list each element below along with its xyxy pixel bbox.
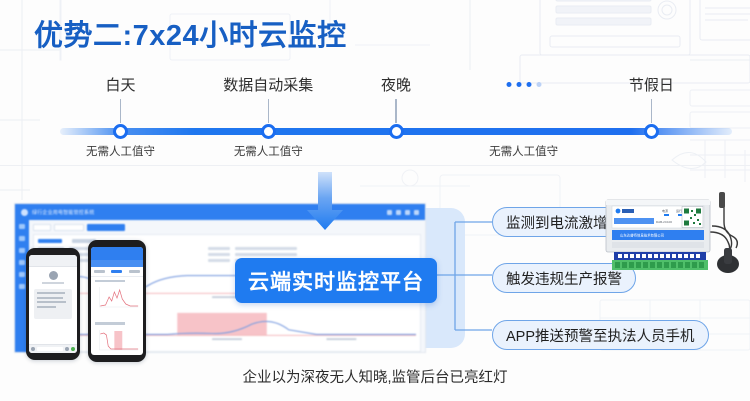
timeline-bottom-label-2: 无需人工值守 — [234, 143, 303, 159]
dashboard-tabs — [33, 224, 421, 231]
callout-pill-3-label: APP推送预警至执法人员手机 — [506, 325, 695, 346]
tab-1 — [33, 224, 51, 231]
voice-icon — [31, 347, 35, 351]
sidebar-item-3 — [19, 248, 25, 253]
timeline: 白天 无需人工值守 数据自动采集 无需人工值守 夜晚 无需人工值守 节假日 — [60, 70, 732, 160]
timeline-top-label-4: 节假日 — [629, 74, 674, 95]
send-button — [71, 347, 75, 351]
phone-navbar — [29, 260, 77, 267]
phone-tab-3 — [129, 270, 140, 273]
callout-pill-1-label: 监测到电流激增 — [506, 212, 608, 233]
page-title: 优势二:7x24小时云监控 — [34, 12, 347, 54]
contact-name — [42, 282, 64, 284]
timeline-tick-3 — [395, 99, 397, 123]
svg-text:山东达普特信息技术有限公司: 山东达普特信息技术有限公司 — [620, 233, 664, 238]
bottom-caption: 企业以为深夜无人知晓,监管后台已亮红灯 — [0, 366, 750, 387]
timeline-node-3[interactable] — [389, 124, 404, 139]
contact-avatar — [49, 271, 58, 280]
subtab-1 — [38, 239, 62, 243]
fullscreen-icon — [396, 210, 401, 215]
dashboard-window-title: 绿行企业用电智能管控系统 — [32, 209, 94, 216]
phone-mockup-report — [88, 240, 146, 362]
search-icon — [387, 210, 392, 215]
emoji-icon — [65, 347, 69, 351]
timeline-top-label-3: 夜晚 — [381, 74, 411, 95]
phone-tabs — [91, 267, 143, 277]
phone-tab-2 — [111, 270, 122, 273]
sidebar-item-6 — [19, 284, 25, 289]
phone-input-bar — [29, 344, 77, 353]
dashboard-topbar: 绿行企业用电智能管控系统 — [15, 204, 425, 220]
antenna-icon — [710, 192, 739, 273]
dashboard-toolbar-icons — [387, 210, 419, 215]
monitoring-device-image: 电源运行通讯 DAB-2C100 山东达普特信息技术有限公司 — [600, 192, 750, 277]
timeline-bottom-label-1: 无需人工值守 — [86, 143, 155, 159]
timeline-node-4[interactable] — [644, 124, 659, 139]
timeline-tick-1 — [120, 99, 122, 123]
down-arrow-icon — [305, 172, 345, 232]
svg-text:运行: 运行 — [676, 208, 682, 213]
timeline-node-2[interactable] — [261, 124, 276, 139]
chat-bubble — [34, 289, 72, 319]
svg-text:DAB-2C100: DAB-2C100 — [656, 220, 672, 224]
dashboard-logo-icon — [21, 209, 28, 216]
timeline-top-label-1: 白天 — [105, 74, 135, 95]
message-input — [37, 347, 63, 351]
timeline-tick-2 — [268, 99, 270, 123]
cloud-platform-box[interactable]: 云端实时监控平台 — [235, 258, 437, 303]
timeline-ellipsis — [506, 82, 541, 87]
timeline-top-label-2: 数据自动采集 — [223, 74, 313, 95]
svg-text:电源: 电源 — [662, 208, 668, 213]
timeline-bottom-label-3: 无需人工值守 — [489, 143, 558, 159]
phone-chart-1 — [91, 277, 143, 320]
phone-chart-2 — [91, 319, 143, 355]
sidebar-item-5 — [19, 272, 25, 277]
bell-icon — [405, 210, 410, 215]
phone-app-header — [91, 247, 143, 260]
timeline-node-1[interactable] — [113, 124, 128, 139]
cloud-platform-label: 云端实时监控平台 — [248, 266, 424, 296]
callout-pill-3[interactable]: APP推送预警至执法人员手机 — [492, 320, 709, 350]
avatar — [414, 210, 419, 215]
phone-tab-1 — [94, 270, 105, 273]
phone-app-subheader — [91, 260, 143, 267]
tab-3-active — [87, 224, 125, 231]
sidebar-item-1 — [19, 224, 25, 229]
tab-2 — [54, 224, 84, 231]
sidebar-item-4 — [19, 260, 25, 265]
sidebar-item-2 — [19, 236, 25, 241]
phone-mockup-chat — [26, 248, 80, 360]
timeline-tick-4 — [651, 99, 653, 123]
